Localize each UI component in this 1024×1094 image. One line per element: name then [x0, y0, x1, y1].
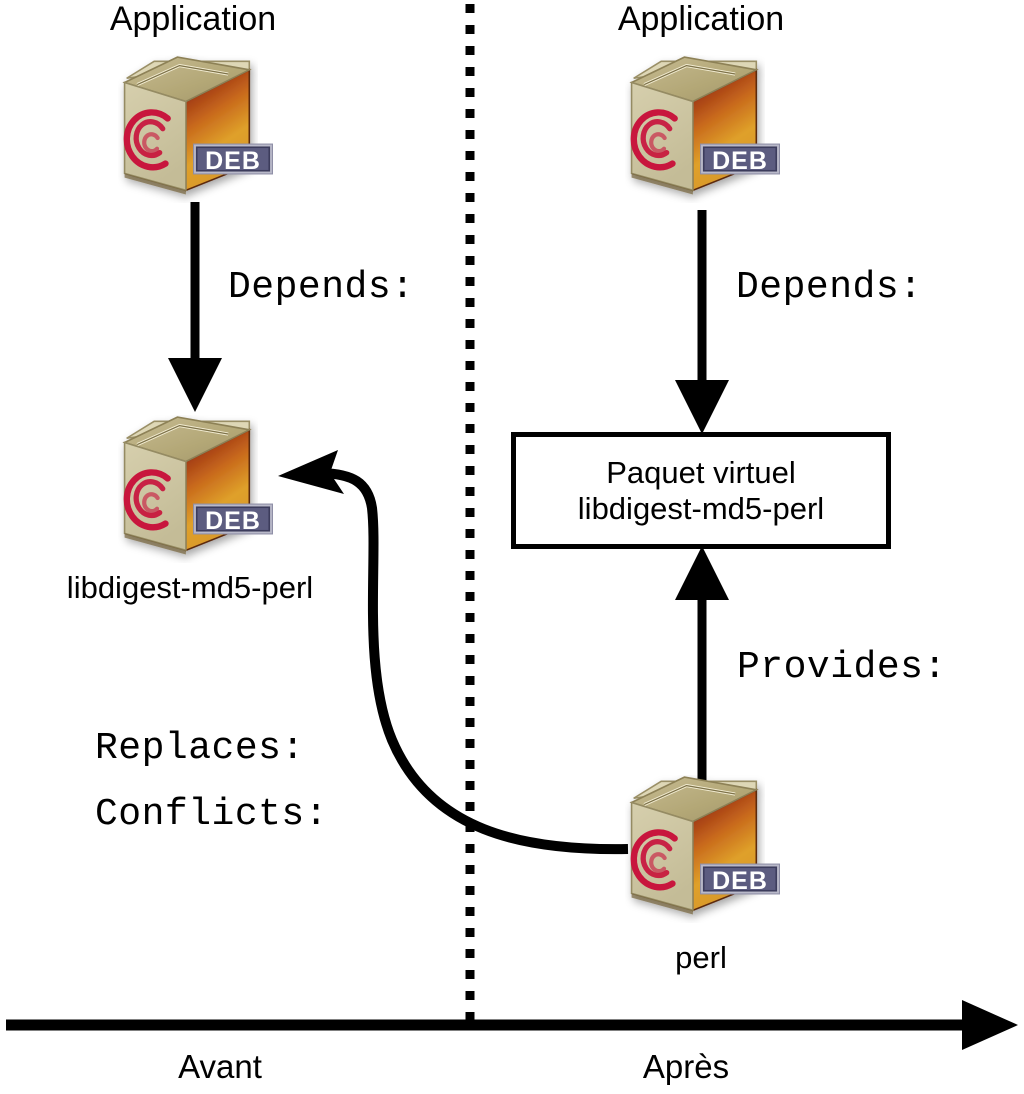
- deb-badge-label-app-right: DEB: [712, 148, 768, 174]
- label-perl: perl: [675, 942, 727, 975]
- virtual-package-box: Paquet virtuel libdigest-md5-perl: [511, 432, 891, 549]
- deb-badge-label-perl: DEB: [712, 868, 768, 894]
- label-replaces: Replaces:: [95, 729, 305, 769]
- arrow-provides: [675, 546, 729, 790]
- label-depends-left: Depends:: [228, 268, 414, 308]
- arrow-depends-left: [168, 202, 222, 412]
- label-depends-right: Depends:: [736, 268, 922, 308]
- deb-badge-label-libdigest: DEB: [205, 508, 261, 534]
- label-conflicts: Conflicts:: [95, 795, 328, 835]
- title-application-right: Application: [618, 2, 784, 38]
- timeline-axis: [6, 1000, 1018, 1050]
- deb-badge-label-app-left: DEB: [205, 148, 261, 174]
- virtual-package-line1: Paquet virtuel: [606, 455, 796, 491]
- label-provides: Provides:: [737, 648, 947, 688]
- title-application-left: Application: [110, 2, 276, 38]
- virtual-package-line2: libdigest-md5-perl: [578, 491, 824, 527]
- label-libdigest-md5-perl: libdigest-md5-perl: [67, 572, 313, 605]
- arrow-depends-right: [675, 210, 729, 434]
- axis-label-avant: Avant: [178, 1050, 262, 1085]
- axis-label-apres: Après: [643, 1050, 729, 1085]
- diagram-canvas: DEB DEB DEB DEB Application Application …: [0, 0, 1024, 1094]
